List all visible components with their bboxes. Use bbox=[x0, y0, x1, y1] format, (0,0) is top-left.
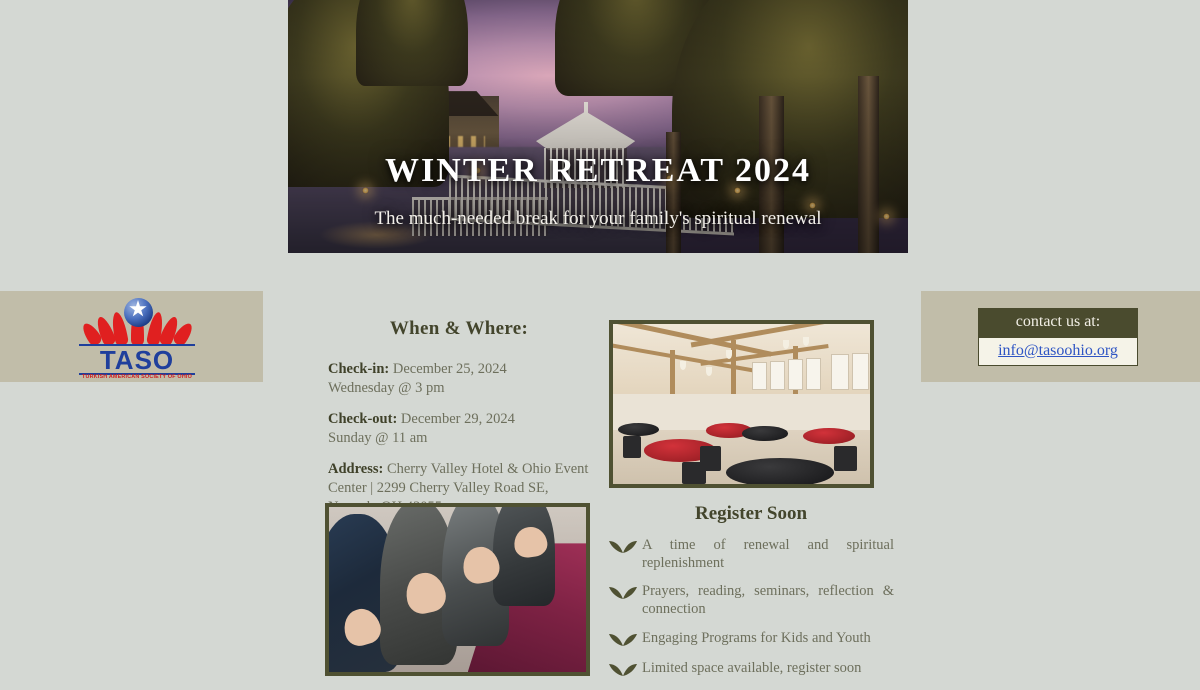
hall-pendant-3 bbox=[726, 350, 732, 359]
checkout-time: Sunday @ 11 am bbox=[328, 430, 427, 446]
address-label: Address: bbox=[328, 461, 383, 477]
hall-window-1 bbox=[752, 362, 767, 390]
hall-window-3 bbox=[788, 359, 803, 390]
prayer-photo bbox=[325, 503, 590, 676]
chevron-wing-icon bbox=[608, 586, 642, 602]
checkin-date: December 25, 2024 bbox=[389, 361, 507, 377]
hall-chair-4 bbox=[623, 436, 641, 458]
register-item-text: A time of renewal and spiritual replenis… bbox=[642, 537, 894, 572]
hall-chair-3 bbox=[834, 446, 857, 472]
register-list-item: Engaging Programs for Kids and Youth bbox=[608, 630, 894, 649]
hall-pendant-2 bbox=[706, 367, 712, 376]
hall-window-5 bbox=[831, 354, 848, 390]
register-list-item: A time of renewal and spiritual replenis… bbox=[608, 537, 894, 572]
register-item-text: Engaging Programs for Kids and Youth bbox=[642, 630, 894, 648]
hero-title: WINTER RETREAT 2024 bbox=[288, 152, 908, 190]
chevron-wing-icon bbox=[608, 663, 642, 679]
hero-subtitle: The much-needed break for your family's … bbox=[288, 208, 908, 230]
hero-banner: WINTER RETREAT 2024 The much-needed brea… bbox=[288, 0, 908, 253]
checkin-label: Check-in: bbox=[328, 361, 389, 377]
register-list-item: Prayers, reading, seminars, reflection &… bbox=[608, 583, 894, 618]
checkout-block: Check-out: December 29, 2024 Sunday @ 11… bbox=[328, 410, 590, 447]
checkin-time: Wednesday @ 3 pm bbox=[328, 380, 444, 396]
hall-chair-2 bbox=[682, 462, 705, 484]
logo-tagline: TURKISH AMERICAN SOCIETY OF OHIO bbox=[79, 374, 195, 380]
chevron-wing-icon bbox=[608, 540, 642, 556]
register-item-text: Prayers, reading, seminars, reflection &… bbox=[642, 583, 894, 618]
register-section: Register Soon A time of renewal and spir… bbox=[608, 503, 894, 690]
checkout-label: Check-out: bbox=[328, 411, 397, 427]
hall-pendant-1 bbox=[680, 361, 686, 370]
hall-table-black-2 bbox=[742, 426, 788, 440]
when-where-section: When & Where: Check-in: December 25, 202… bbox=[328, 318, 590, 518]
banquet-hall-photo bbox=[609, 320, 874, 488]
contact-email-link[interactable]: info@tasoohio.org bbox=[998, 342, 1118, 359]
contact-email-row[interactable]: info@tasoohio.org bbox=[978, 337, 1138, 366]
checkout-date: December 29, 2024 bbox=[397, 411, 515, 427]
hall-table-black-3 bbox=[618, 423, 659, 436]
when-where-heading: When & Where: bbox=[328, 318, 590, 340]
hall-window-4 bbox=[806, 358, 821, 390]
hall-table-black-1 bbox=[726, 458, 834, 487]
register-list-item: Limited space available, register soon bbox=[608, 660, 894, 679]
checkin-block: Check-in: December 25, 2024 Wednesday @ … bbox=[328, 360, 590, 397]
hall-table-red-3 bbox=[803, 428, 854, 444]
chevron-wing-icon bbox=[608, 633, 642, 649]
hall-window-6 bbox=[852, 353, 869, 390]
logo-wordmark: TASO bbox=[79, 344, 195, 375]
register-heading: Register Soon bbox=[608, 503, 894, 525]
hall-pendant-4 bbox=[783, 340, 789, 349]
taso-logo: TASO TURKISH AMERICAN SOCIETY OF OHIO bbox=[79, 298, 195, 378]
hall-pendant-5 bbox=[803, 337, 809, 346]
contact-box: contact us at: info@tasoohio.org bbox=[978, 308, 1138, 366]
hall-window-2 bbox=[770, 361, 785, 390]
contact-heading: contact us at: bbox=[978, 308, 1138, 337]
